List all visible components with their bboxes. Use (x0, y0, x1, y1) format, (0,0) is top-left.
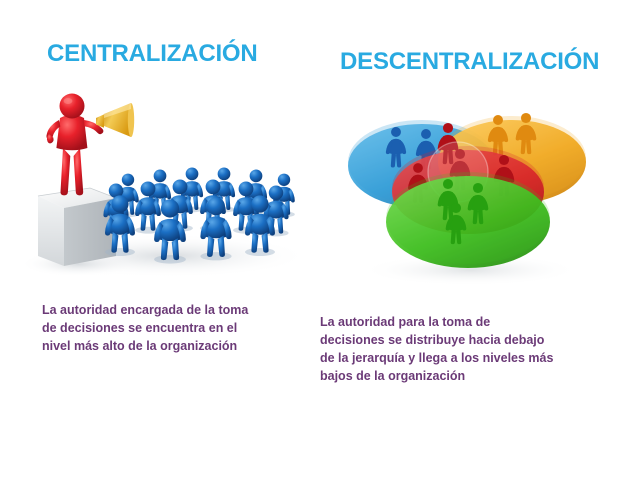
group-disc-green (386, 172, 550, 268)
description-centralizacion: La autoridad encargada de la toma de dec… (42, 301, 307, 355)
description-descentralizacion: La autoridad para la toma de decisiones … (320, 313, 600, 385)
page-title-descentralizacion: DESCENTRALIZACIÓN (340, 48, 599, 76)
slide-canvas: CENTRALIZACIÓN DESCENTRALIZACIÓN (0, 0, 638, 479)
pedestal (38, 188, 116, 266)
illustration-centralized-leader (20, 78, 310, 278)
illustration-decentralized-groups (330, 88, 602, 288)
page-title-centralizacion: CENTRALIZACIÓN (47, 40, 258, 68)
